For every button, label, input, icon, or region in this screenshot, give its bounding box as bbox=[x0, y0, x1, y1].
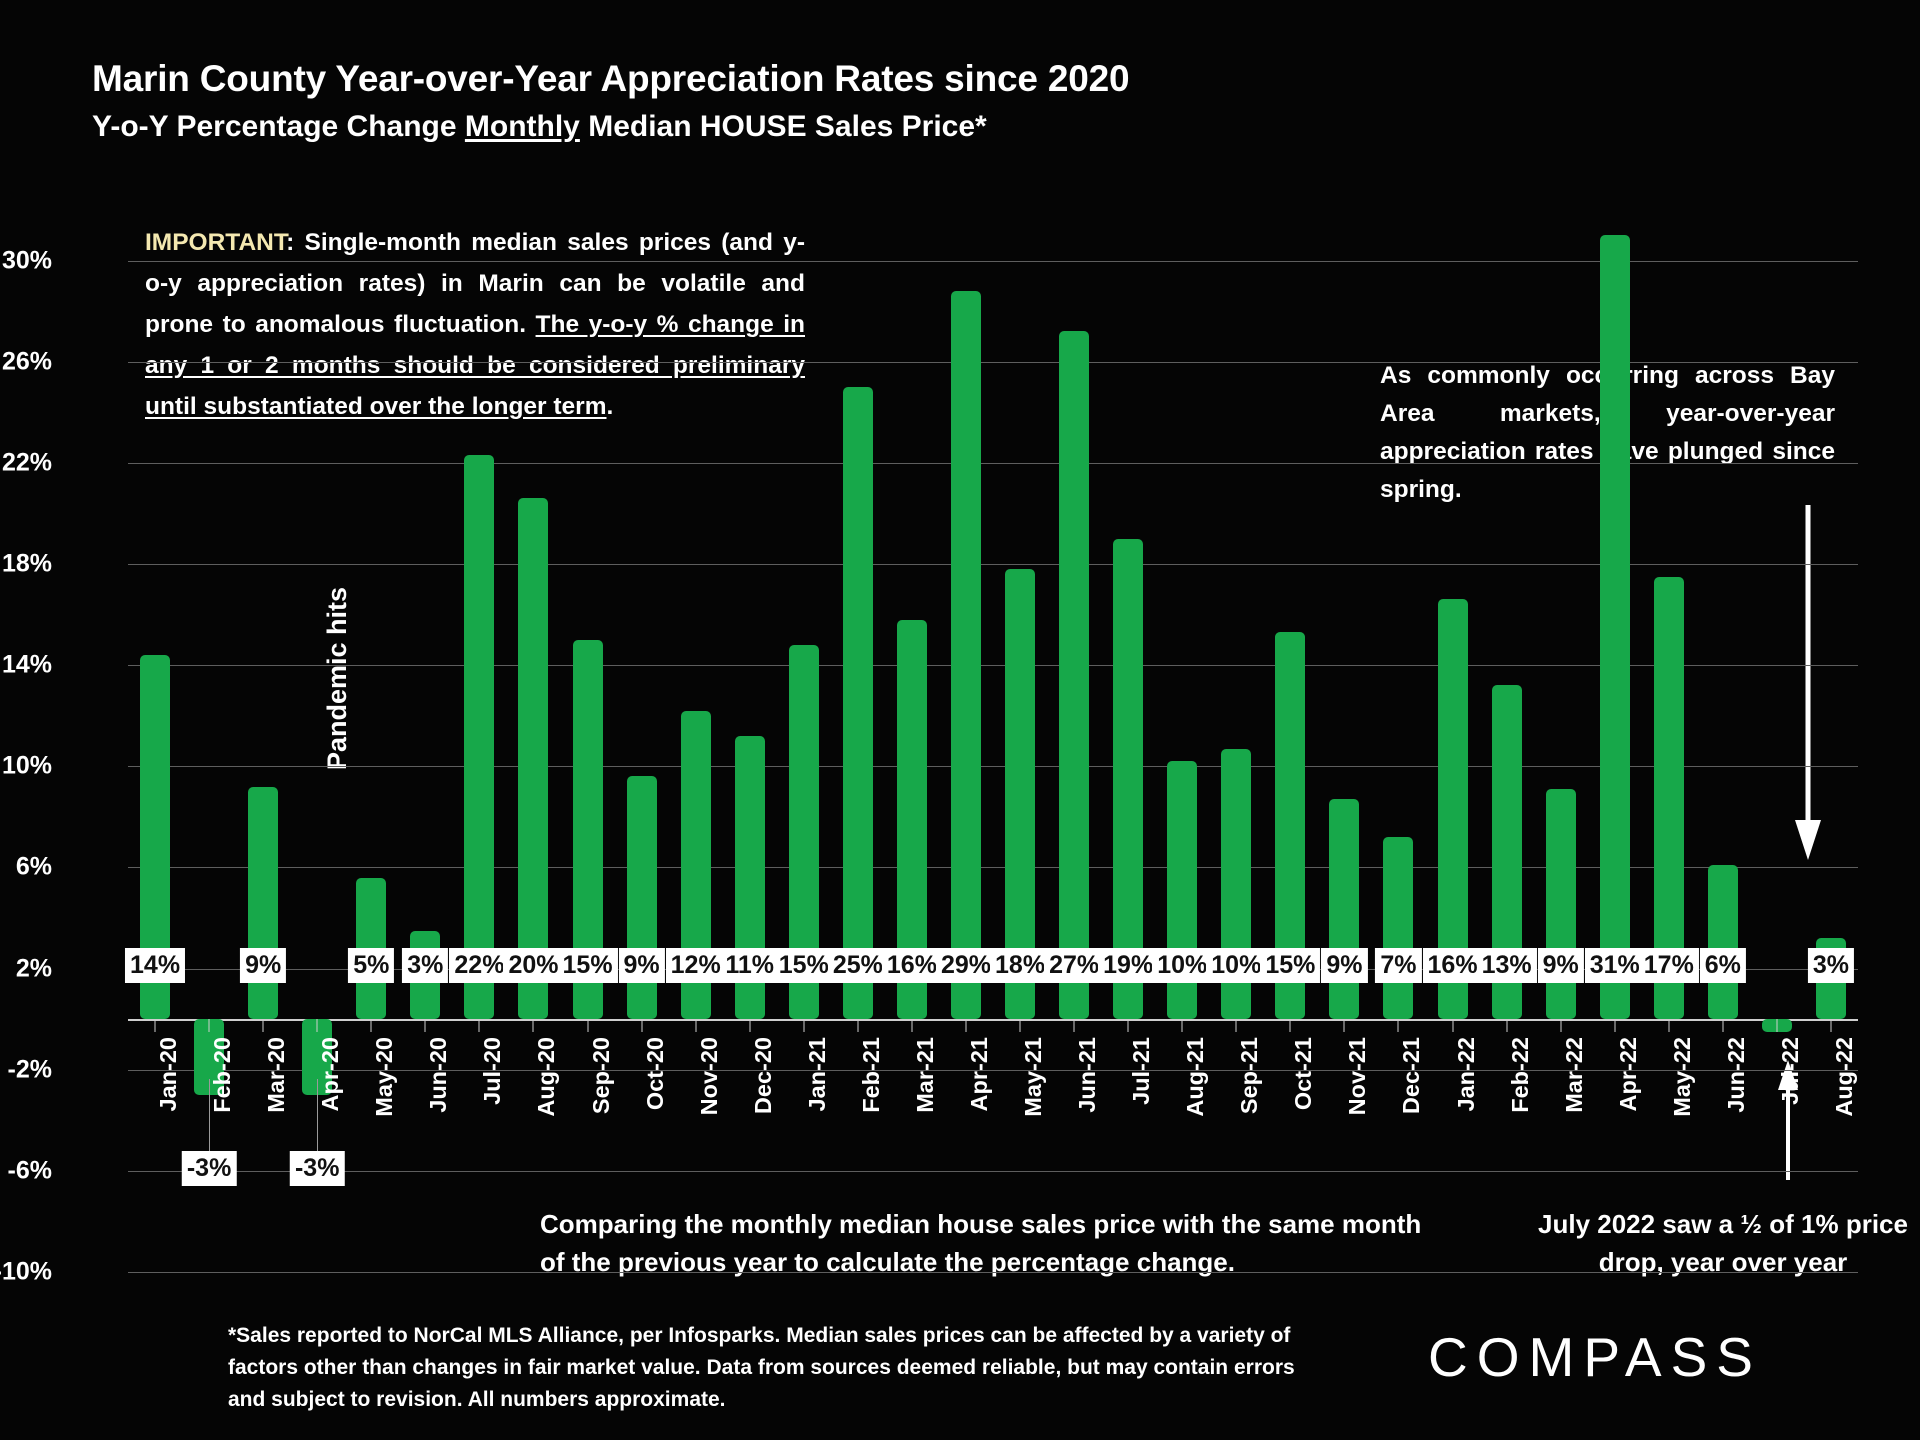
bar[interactable] bbox=[627, 776, 657, 1019]
bar-group[interactable]: Dec-217% bbox=[1371, 210, 1425, 1272]
x-axis-label: Aug-21 bbox=[1182, 1037, 1209, 1117]
x-axis-label: Sep-20 bbox=[588, 1037, 615, 1114]
x-axis-label: May-22 bbox=[1669, 1037, 1696, 1117]
bar-group[interactable]: Feb-2125% bbox=[831, 210, 885, 1272]
bar-value-label: 25% bbox=[828, 948, 888, 983]
bar-group[interactable]: Oct-2115% bbox=[1263, 210, 1317, 1272]
x-axis-label: May-21 bbox=[1020, 1037, 1047, 1117]
x-axis-tick bbox=[965, 1019, 966, 1032]
bar-group[interactable]: Mar-209% bbox=[236, 210, 290, 1272]
chart-plot-area: 30%26%22%18%14%10%6%2%-2%-6%-10% Jan-201… bbox=[128, 210, 1858, 1272]
x-axis-tick bbox=[155, 1019, 156, 1032]
bar-group[interactable]: Apr-20-3% bbox=[290, 210, 344, 1272]
bar-group[interactable]: Aug-2020% bbox=[506, 210, 560, 1272]
bar-group[interactable]: Sep-2110% bbox=[1209, 210, 1263, 1272]
bar[interactable] bbox=[248, 787, 278, 1020]
x-axis-label: Jan-22 bbox=[1453, 1037, 1480, 1111]
bar-group[interactable]: Jul-2022% bbox=[452, 210, 506, 1272]
bar-group[interactable]: Jun-2127% bbox=[1047, 210, 1101, 1272]
x-axis-label: Sep-21 bbox=[1236, 1037, 1263, 1114]
x-axis-tick bbox=[857, 1019, 858, 1032]
x-axis-label: Jul-20 bbox=[479, 1037, 506, 1105]
bar-value-label: 12% bbox=[666, 948, 726, 983]
x-axis-tick bbox=[263, 1019, 264, 1032]
bar-value-label: 16% bbox=[1423, 948, 1483, 983]
bar-value-label: 19% bbox=[1098, 948, 1158, 983]
bar-group[interactable]: Apr-2231% bbox=[1588, 210, 1642, 1272]
bar-value-label: 11% bbox=[720, 948, 779, 983]
x-axis-label: Jul-22 bbox=[1777, 1037, 1804, 1105]
label-leader-line bbox=[317, 1079, 318, 1151]
x-axis-tick bbox=[1398, 1019, 1399, 1032]
x-axis-tick bbox=[1506, 1019, 1507, 1032]
subtitle-underlined: Monthly bbox=[465, 110, 580, 143]
x-axis-tick bbox=[1560, 1019, 1561, 1032]
x-axis-label: Mar-22 bbox=[1561, 1037, 1588, 1113]
bar[interactable] bbox=[951, 291, 981, 1019]
label-leader-line bbox=[209, 1079, 210, 1151]
x-axis-label: Feb-22 bbox=[1507, 1037, 1534, 1113]
x-axis-label: Apr-20 bbox=[317, 1037, 344, 1111]
bar-group[interactable]: Nov-2012% bbox=[669, 210, 723, 1272]
x-axis-tick bbox=[1236, 1019, 1237, 1032]
x-axis-label: Apr-22 bbox=[1615, 1037, 1642, 1111]
bar-group[interactable]: Jun-226% bbox=[1696, 210, 1750, 1272]
x-axis-tick bbox=[371, 1019, 372, 1032]
x-axis-tick bbox=[425, 1019, 426, 1032]
y-axis-tick-label: -10% bbox=[0, 1258, 52, 1287]
x-axis-tick bbox=[587, 1019, 588, 1032]
x-axis-tick bbox=[749, 1019, 750, 1032]
bar-value-label: 5% bbox=[348, 948, 394, 983]
x-axis-label: Feb-20 bbox=[209, 1037, 236, 1113]
bar-group[interactable]: Aug-2110% bbox=[1155, 210, 1209, 1272]
x-axis-label: Mar-20 bbox=[263, 1037, 290, 1113]
bar-group[interactable]: Sep-2015% bbox=[561, 210, 615, 1272]
bar-group[interactable]: May-2118% bbox=[993, 210, 1047, 1272]
x-axis-tick bbox=[1020, 1019, 1021, 1032]
bar-value-label: 9% bbox=[240, 948, 286, 983]
x-axis-tick bbox=[1128, 1019, 1129, 1032]
bar[interactable] bbox=[1600, 235, 1630, 1019]
x-axis-label: Jun-21 bbox=[1074, 1037, 1101, 1113]
y-axis-tick-label: 6% bbox=[0, 853, 52, 882]
x-axis-label: Nov-20 bbox=[696, 1037, 723, 1115]
bar-series: Jan-2014%Feb-20-3%Mar-209%Apr-20-3%May-2… bbox=[128, 210, 1858, 1272]
x-axis-tick bbox=[479, 1019, 480, 1032]
x-axis-tick bbox=[641, 1019, 642, 1032]
footnote: *Sales reported to NorCal MLS Alliance, … bbox=[228, 1320, 1318, 1416]
bar-group[interactable]: Feb-2213% bbox=[1480, 210, 1534, 1272]
bar-value-label: 29% bbox=[936, 948, 996, 983]
bar-value-label: 15% bbox=[558, 948, 618, 983]
bar-value-label: 14% bbox=[125, 948, 185, 983]
x-axis-tick bbox=[317, 1019, 318, 1032]
x-axis-tick bbox=[1182, 1019, 1183, 1032]
bar-value-label: 9% bbox=[619, 948, 665, 983]
y-axis-tick-label: -6% bbox=[0, 1156, 52, 1185]
page-subtitle: Y-o-Y Percentage Change Monthly Median H… bbox=[92, 110, 987, 144]
x-axis-tick bbox=[1452, 1019, 1453, 1032]
bar-group[interactable]: Oct-209% bbox=[615, 210, 669, 1272]
x-axis-tick bbox=[533, 1019, 534, 1032]
x-axis-tick bbox=[695, 1019, 696, 1032]
y-axis-tick-label: 22% bbox=[0, 448, 52, 477]
bar-value-label: 15% bbox=[1260, 948, 1320, 983]
y-axis-tick-label: 26% bbox=[0, 347, 52, 376]
x-axis-label: Apr-21 bbox=[966, 1037, 993, 1111]
x-axis-label: Aug-22 bbox=[1831, 1037, 1858, 1117]
bar-group[interactable]: May-2217% bbox=[1642, 210, 1696, 1272]
subtitle-part-2: Median HOUSE Sales Price* bbox=[580, 110, 987, 143]
bar-value-label: 15% bbox=[774, 948, 834, 983]
bar-group[interactable]: Apr-2129% bbox=[939, 210, 993, 1272]
bar-value-label: 31% bbox=[1585, 948, 1645, 983]
bar-group[interactable]: Aug-223% bbox=[1804, 210, 1858, 1272]
bar[interactable] bbox=[1708, 865, 1738, 1019]
bar-group[interactable]: Jan-2014% bbox=[128, 210, 182, 1272]
bar-group[interactable]: Mar-229% bbox=[1534, 210, 1588, 1272]
bar-value-label: 6% bbox=[1700, 948, 1746, 983]
x-axis-label: Dec-21 bbox=[1398, 1037, 1425, 1114]
bar[interactable] bbox=[464, 455, 494, 1019]
bar-value-label: 16% bbox=[882, 948, 942, 983]
bar-value-label: -3% bbox=[182, 1151, 236, 1186]
bar-value-label: 9% bbox=[1321, 948, 1367, 983]
y-axis-tick-label: 10% bbox=[0, 752, 52, 781]
compass-wordmark: COMPASS bbox=[1428, 1325, 1762, 1389]
x-axis-tick bbox=[1290, 1019, 1291, 1032]
y-axis-tick-label: 14% bbox=[0, 651, 52, 680]
bar-group[interactable]: Jul-2119% bbox=[1101, 210, 1155, 1272]
x-axis-label: Oct-21 bbox=[1290, 1037, 1317, 1110]
x-axis-label: Jun-20 bbox=[425, 1037, 452, 1113]
x-axis-label: Jul-21 bbox=[1128, 1037, 1155, 1105]
x-axis-label: Dec-20 bbox=[750, 1037, 777, 1114]
x-axis-tick bbox=[803, 1019, 804, 1032]
page-title: Marin County Year-over-Year Appreciation… bbox=[92, 58, 1129, 100]
x-axis-label: Aug-20 bbox=[533, 1037, 560, 1117]
bar-group[interactable]: Nov-219% bbox=[1317, 210, 1371, 1272]
x-axis-label: Feb-21 bbox=[858, 1037, 885, 1113]
bar-value-label: 10% bbox=[1206, 948, 1266, 983]
x-axis-label: Jan-21 bbox=[804, 1037, 831, 1111]
bar[interactable] bbox=[1329, 799, 1359, 1019]
y-axis-tick-label: 30% bbox=[0, 246, 52, 275]
bar-group[interactable]: Jan-2115% bbox=[777, 210, 831, 1272]
chart-page: Marin County Year-over-Year Appreciation… bbox=[0, 0, 1920, 1440]
y-axis-tick-label: -2% bbox=[0, 1055, 52, 1084]
bar-value-label: 22% bbox=[449, 948, 509, 983]
bar-value-label: 10% bbox=[1152, 948, 1212, 983]
x-axis-tick bbox=[1344, 1019, 1345, 1032]
bar-value-label: 17% bbox=[1639, 948, 1699, 983]
bar[interactable] bbox=[1383, 837, 1413, 1019]
bar-group[interactable]: Jul-22 bbox=[1750, 210, 1804, 1272]
x-axis-tick bbox=[1722, 1019, 1723, 1032]
x-axis-label: Oct-20 bbox=[642, 1037, 669, 1110]
bar-group[interactable]: Feb-20-3% bbox=[182, 210, 236, 1272]
bar-value-label: 27% bbox=[1044, 948, 1104, 983]
y-axis-tick-label: 18% bbox=[0, 550, 52, 579]
x-axis-tick bbox=[1668, 1019, 1669, 1032]
x-axis-label: Nov-21 bbox=[1344, 1037, 1371, 1115]
compass-logo: COMPASS bbox=[1428, 1325, 1762, 1389]
subtitle-part-1: Y-o-Y Percentage Change bbox=[92, 110, 465, 143]
bar-group[interactable]: Jan-2216% bbox=[1426, 210, 1480, 1272]
bar-value-label: 7% bbox=[1375, 948, 1421, 983]
bar[interactable] bbox=[1546, 789, 1576, 1019]
bar-value-label: 9% bbox=[1538, 948, 1584, 983]
x-axis-tick bbox=[1074, 1019, 1075, 1032]
x-axis-label: Jun-22 bbox=[1723, 1037, 1750, 1113]
bar-value-label: 20% bbox=[503, 948, 563, 983]
bar[interactable] bbox=[1059, 331, 1089, 1019]
bar-value-label: 3% bbox=[402, 948, 448, 983]
bar[interactable] bbox=[843, 387, 873, 1019]
bar-value-label: 18% bbox=[990, 948, 1050, 983]
bar-value-label: -3% bbox=[290, 1151, 344, 1186]
x-axis-tick bbox=[1614, 1019, 1615, 1032]
bar[interactable] bbox=[518, 498, 548, 1019]
bar-group[interactable]: Mar-2116% bbox=[885, 210, 939, 1272]
bar-value-label: 13% bbox=[1477, 948, 1537, 983]
x-axis-tick bbox=[1830, 1019, 1831, 1032]
x-axis-tick bbox=[209, 1019, 210, 1032]
x-axis-label: May-20 bbox=[371, 1037, 398, 1117]
y-axis-tick-label: 2% bbox=[0, 954, 52, 983]
bar-value-label: 3% bbox=[1808, 948, 1854, 983]
x-axis-tick bbox=[1776, 1019, 1777, 1032]
x-axis-label: Jan-20 bbox=[155, 1037, 182, 1111]
x-axis-tick bbox=[911, 1019, 912, 1032]
x-axis-label: Mar-21 bbox=[912, 1037, 939, 1113]
bar-group[interactable]: May-205% bbox=[344, 210, 398, 1272]
gridline bbox=[128, 1272, 1858, 1273]
bar-group[interactable]: Jun-203% bbox=[398, 210, 452, 1272]
bar-group[interactable]: Dec-2011% bbox=[723, 210, 777, 1272]
